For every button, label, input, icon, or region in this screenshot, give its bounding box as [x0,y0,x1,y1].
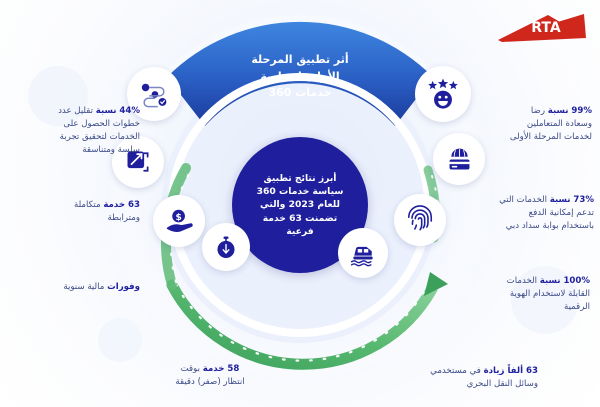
fingerprint-icon [405,205,435,235]
rta-logo-text: RTA [531,20,561,36]
icon-bubble-money-hand-icon: $ [153,195,205,247]
stat-label-sadad-payment: 73% نسبة الخدمات التي تدعم إمكانية الدفع… [452,181,594,233]
stat-value-sadad-payment: 73% نسبة [550,195,594,205]
stat-value-zero-wait: 58 خدمة [203,364,240,374]
money-hand-icon: $ [165,207,194,236]
stat-value-marine-transport: 63 ألفاً زيادة [484,366,538,376]
stat-label-zero-wait: 58 خدمة بوقت انتظار (صفر) دقيقة [140,350,280,389]
stat-label-annual-savings: وفورات مالية سنوية [22,268,140,294]
stat-label-steps-reduction: 44% نسبة تقليل عدد خطوات الحصول على الخد… [12,92,140,156]
stopwatch-icon [213,234,239,260]
stat-label-digital-identity: 100% نسبة الخدمات القابلة لاستخدام الهوي… [452,262,590,314]
stat-label-marine-transport: 63 ألفاً زيادة في مستخدمي وسائل النقل ال… [378,352,538,391]
stat-value-customer-happiness: 99% نسبة [548,106,592,116]
stat-label-integrated-services: 63 خدمة متكاملة ومترابطة [22,186,140,225]
stat-value-steps-reduction: 44% نسبة [96,106,140,116]
center-summary-text: أبرز نتائج تطبيق سياسة خدمات 360 للعام 2… [245,172,356,239]
credit-card-icon [445,145,474,174]
stat-value-annual-savings: وفورات [107,282,140,292]
stat-desc-annual-savings: مالية سنوية [63,282,107,292]
infographic-canvas: RTA [0,0,600,407]
stat-value-integrated-services: 63 خدمة [103,200,140,210]
icon-bubble-fingerprint-icon [394,194,446,246]
svg-text:$: $ [175,213,181,223]
stat-value-digital-identity: 100% نسبة [540,276,590,286]
icon-bubble-ferry-icon [338,228,388,278]
page-title: أثر تطبيق المرحلة الأولى لسياسة خدمات 36… [0,52,600,102]
icon-bubble-stopwatch-icon [202,223,250,271]
ferry-icon [349,239,377,267]
